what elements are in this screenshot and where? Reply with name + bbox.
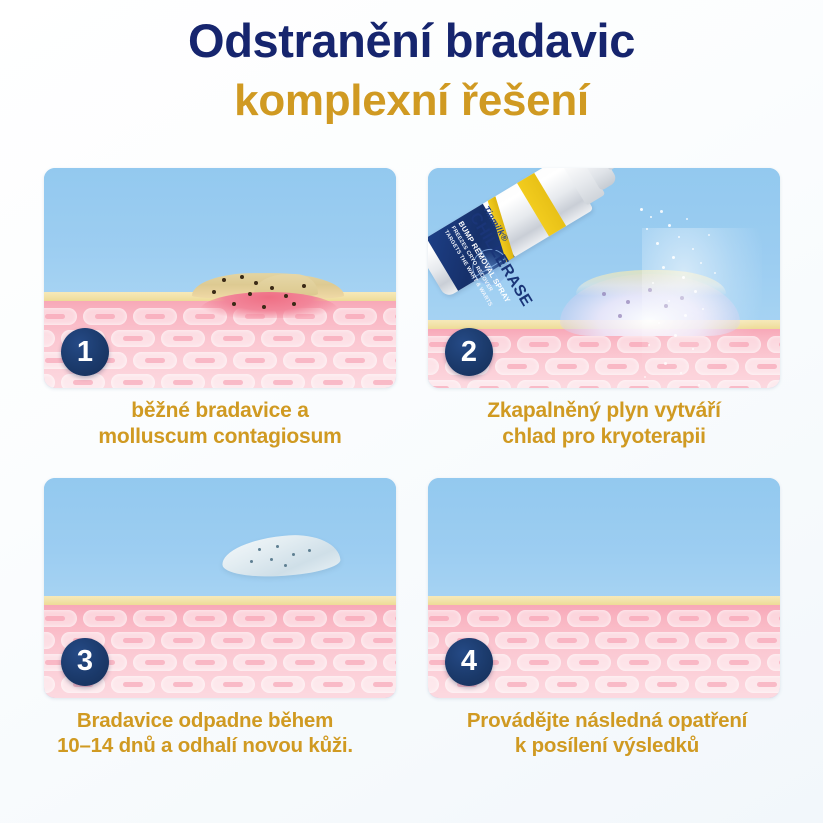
steps-grid: 1 běžné bradavice a molluscum contagiosu… xyxy=(44,168,780,759)
stratum-corneum-layer xyxy=(428,596,780,605)
infographic-page: Odstranění bradavic komplexní řešení xyxy=(0,0,823,823)
step-card-1: 1 běžné bradavice a molluscum contagiosu… xyxy=(44,168,396,451)
vapor-haze xyxy=(642,228,762,378)
step-card-4: 4 Provádějte následná opatření k posílen… xyxy=(428,478,780,759)
title-line-primary: Odstranění bradavic xyxy=(0,14,823,69)
page-title: Odstranění bradavic komplexní řešení xyxy=(0,14,823,127)
title-line-secondary: komplexní řešení xyxy=(0,75,823,128)
step-caption-1: běžné bradavice a molluscum contagiosum xyxy=(44,398,396,451)
step-number-badge: 2 xyxy=(445,328,493,376)
step-caption-2: Zkapalněný plyn vytváří chlad pro kryote… xyxy=(428,398,780,451)
step-caption-4: Provádějte následná opatření k posílení … xyxy=(434,708,780,759)
step-number-badge: 3 xyxy=(61,638,109,686)
step-illustration-1: 1 xyxy=(44,168,396,388)
step-caption-3: Bradavice odpadne během 10–14 dnů a odha… xyxy=(14,708,396,759)
air-region xyxy=(428,478,780,600)
detached-wart-scab xyxy=(222,536,340,576)
step-illustration-3: 3 xyxy=(44,478,396,698)
air-region xyxy=(44,478,396,600)
step-card-2: Tinmilk® CHILLERASE BUMP REMOVAL SPRAY F… xyxy=(428,168,780,451)
step-illustration-4: 4 xyxy=(428,478,780,698)
stratum-corneum-layer xyxy=(44,596,396,605)
step-number-badge: 4 xyxy=(445,638,493,686)
wart-lesion xyxy=(192,272,344,318)
step-card-3: 3 Bradavice odpadne během 10–14 dnů a od… xyxy=(44,478,396,759)
step-illustration-2: Tinmilk® CHILLERASE BUMP REMOVAL SPRAY F… xyxy=(428,168,780,388)
step-number-badge: 1 xyxy=(61,328,109,376)
